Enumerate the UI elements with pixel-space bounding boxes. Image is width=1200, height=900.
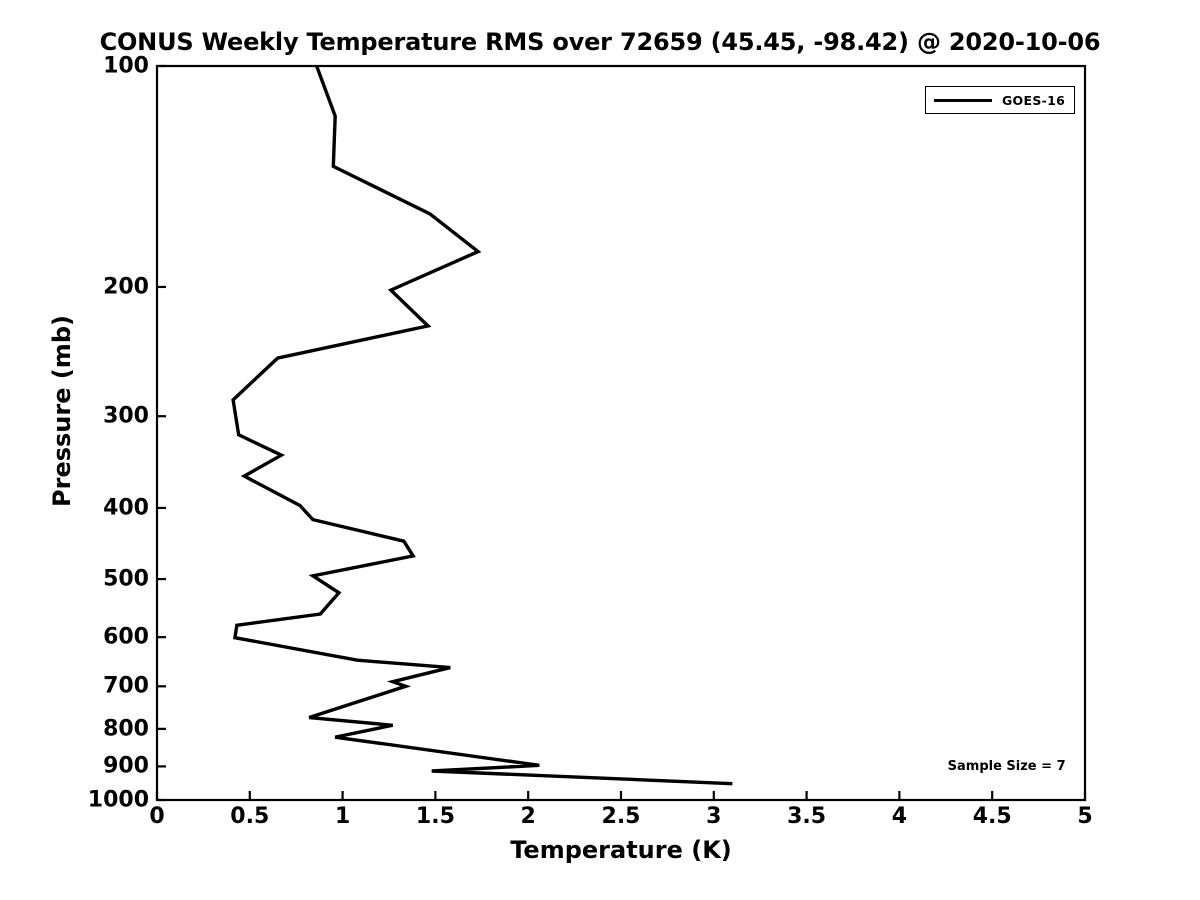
x-tick-label: 3.5 bbox=[787, 804, 826, 829]
y-tick-label: 800 bbox=[103, 716, 149, 741]
x-tick-label: 4.5 bbox=[973, 804, 1012, 829]
y-tick-label: 100 bbox=[103, 54, 149, 79]
x-tick-label: 2 bbox=[521, 804, 536, 829]
chart-figure: CONUS Weekly Temperature RMS over 72659 … bbox=[0, 0, 1200, 900]
y-tick-label: 700 bbox=[103, 674, 149, 699]
y-tick-label: 900 bbox=[103, 754, 149, 779]
y-tick-label: 200 bbox=[103, 274, 149, 299]
axes-frame bbox=[157, 66, 1085, 800]
legend: GOES-16 bbox=[925, 86, 1075, 114]
x-tick-label: 3 bbox=[706, 804, 721, 829]
y-tick-label: 600 bbox=[103, 625, 149, 650]
y-axis-label: Pressure (mb) bbox=[48, 301, 76, 521]
x-tick-label: 0.5 bbox=[230, 804, 269, 829]
y-tick-label: 500 bbox=[103, 567, 149, 592]
legend-label-goes-16: GOES-16 bbox=[1002, 93, 1065, 108]
x-tick-label: 2.5 bbox=[602, 804, 641, 829]
x-axis-label: Temperature (K) bbox=[157, 836, 1085, 864]
x-tick-label: 1.5 bbox=[416, 804, 455, 829]
x-tick-label: 4 bbox=[892, 804, 907, 829]
y-tick-label: 300 bbox=[103, 404, 149, 429]
x-tick-label: 5 bbox=[1077, 804, 1092, 829]
data-series-line-goes-16 bbox=[233, 66, 732, 784]
x-tick-label: 0 bbox=[149, 804, 164, 829]
y-tick-label: 400 bbox=[103, 495, 149, 520]
sample-size-annotation: Sample Size = 7 bbox=[948, 759, 1066, 774]
y-tick-label: 1000 bbox=[88, 788, 149, 813]
x-tick-label: 1 bbox=[335, 804, 350, 829]
legend-line-swatch-goes-16 bbox=[934, 99, 992, 102]
